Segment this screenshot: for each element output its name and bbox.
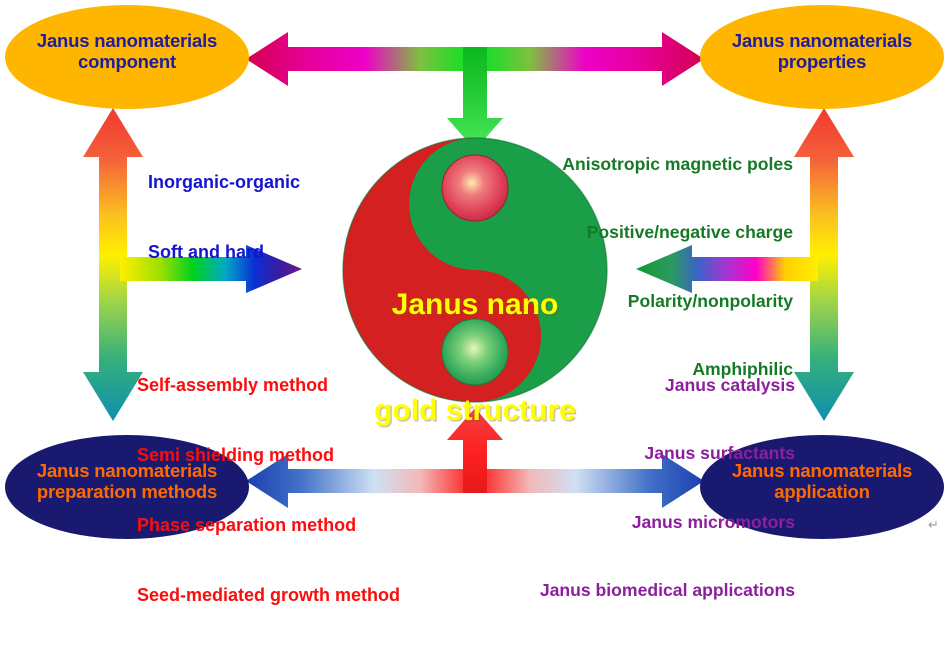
annotation-line: Positive/negative charge [562,221,793,244]
paragraph-mark: ↵ [928,517,939,533]
annotation-preparation-items: Self-assembly method Semi shielding meth… [137,327,400,654]
annotation-line: Anisotropic magnetic poles [562,153,793,176]
janus-dot-bottom [442,319,508,385]
annotation-line: Janus biomedical applications [540,579,795,602]
node-ellipse-properties[interactable] [700,5,944,109]
annotation-line: Janus catalysis [540,374,795,397]
annotation-line: Janus micromotors [540,511,795,534]
node-ellipse-component[interactable] [5,5,249,109]
annotation-line: Seed-mediated growth method [137,584,400,607]
annotation-line: Polarity/nonpolarity [562,290,793,313]
figure-canvas: Janus nanomaterials component Janus nano… [0,0,950,541]
janus-dot-top [442,155,508,221]
annotation-line: Self-assembly method [137,374,400,397]
annotation-line: Janus surfactants [540,442,795,465]
annotation-line: Semi shielding method [137,444,400,467]
annotation-line: Inorganic-organic [148,171,300,194]
annotation-component-items: Inorganic-organic Soft and hard [148,124,300,311]
annotation-line: Soft and hard [148,241,300,264]
annotation-application-items: Janus catalysis Janus surfactants Janus … [540,328,795,648]
annotation-line: Phase separation method [137,514,400,537]
